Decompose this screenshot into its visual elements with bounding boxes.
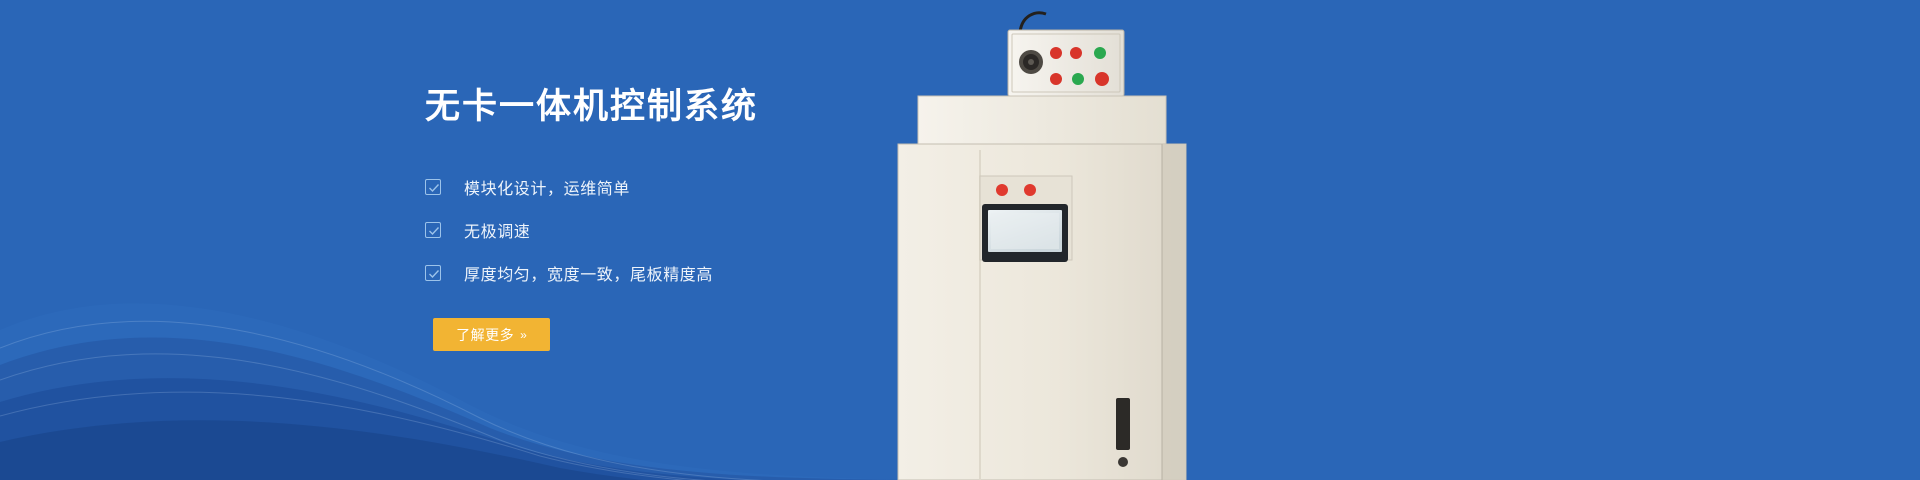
hero-content: 无卡一体机控制系统 模块化设计，运维简单 无极调速 <box>425 86 985 351</box>
list-item: 模块化设计，运维简单 <box>425 170 985 203</box>
hero-banner: 无卡一体机控制系统 模块化设计，运维简单 无极调速 <box>0 0 1920 480</box>
indicator-light[interactable] <box>996 184 1008 196</box>
feature-label: 无极调速 <box>464 218 530 242</box>
indicator-light[interactable] <box>1072 73 1084 85</box>
check-square-icon <box>425 179 441 195</box>
cabinet-side-panel <box>1162 144 1186 480</box>
check-square-icon <box>425 222 441 238</box>
indicator-light[interactable] <box>1050 73 1062 85</box>
page-title: 无卡一体机控制系统 <box>425 86 985 128</box>
feature-label: 模块化设计，运维简单 <box>464 175 630 199</box>
control-box <box>1008 13 1124 96</box>
double-chevron-right-icon: » <box>520 329 527 341</box>
power-cable <box>1020 13 1046 32</box>
door-lock-icon[interactable] <box>1118 457 1128 467</box>
learn-more-button[interactable]: 了解更多 » <box>433 318 550 351</box>
indicator-light[interactable] <box>1095 72 1109 86</box>
list-item: 厚度均匀，宽度一致，尾板精度高 <box>425 256 985 289</box>
indicator-light[interactable] <box>1094 47 1106 59</box>
feature-label: 厚度均匀，宽度一致，尾板精度高 <box>464 261 713 285</box>
door-handle[interactable] <box>1116 398 1130 450</box>
hmi-touchscreen[interactable] <box>982 204 1068 262</box>
feature-list: 模块化设计，运维简单 无极调速 厚度均匀，宽度一致，尾板精度高 <box>425 170 985 289</box>
learn-more-label: 了解更多 <box>456 325 514 345</box>
indicator-light[interactable] <box>1050 47 1062 59</box>
list-item: 无极调速 <box>425 213 985 246</box>
check-square-icon <box>425 265 441 281</box>
indicator-light[interactable] <box>1070 47 1082 59</box>
indicator-light[interactable] <box>1024 184 1036 196</box>
